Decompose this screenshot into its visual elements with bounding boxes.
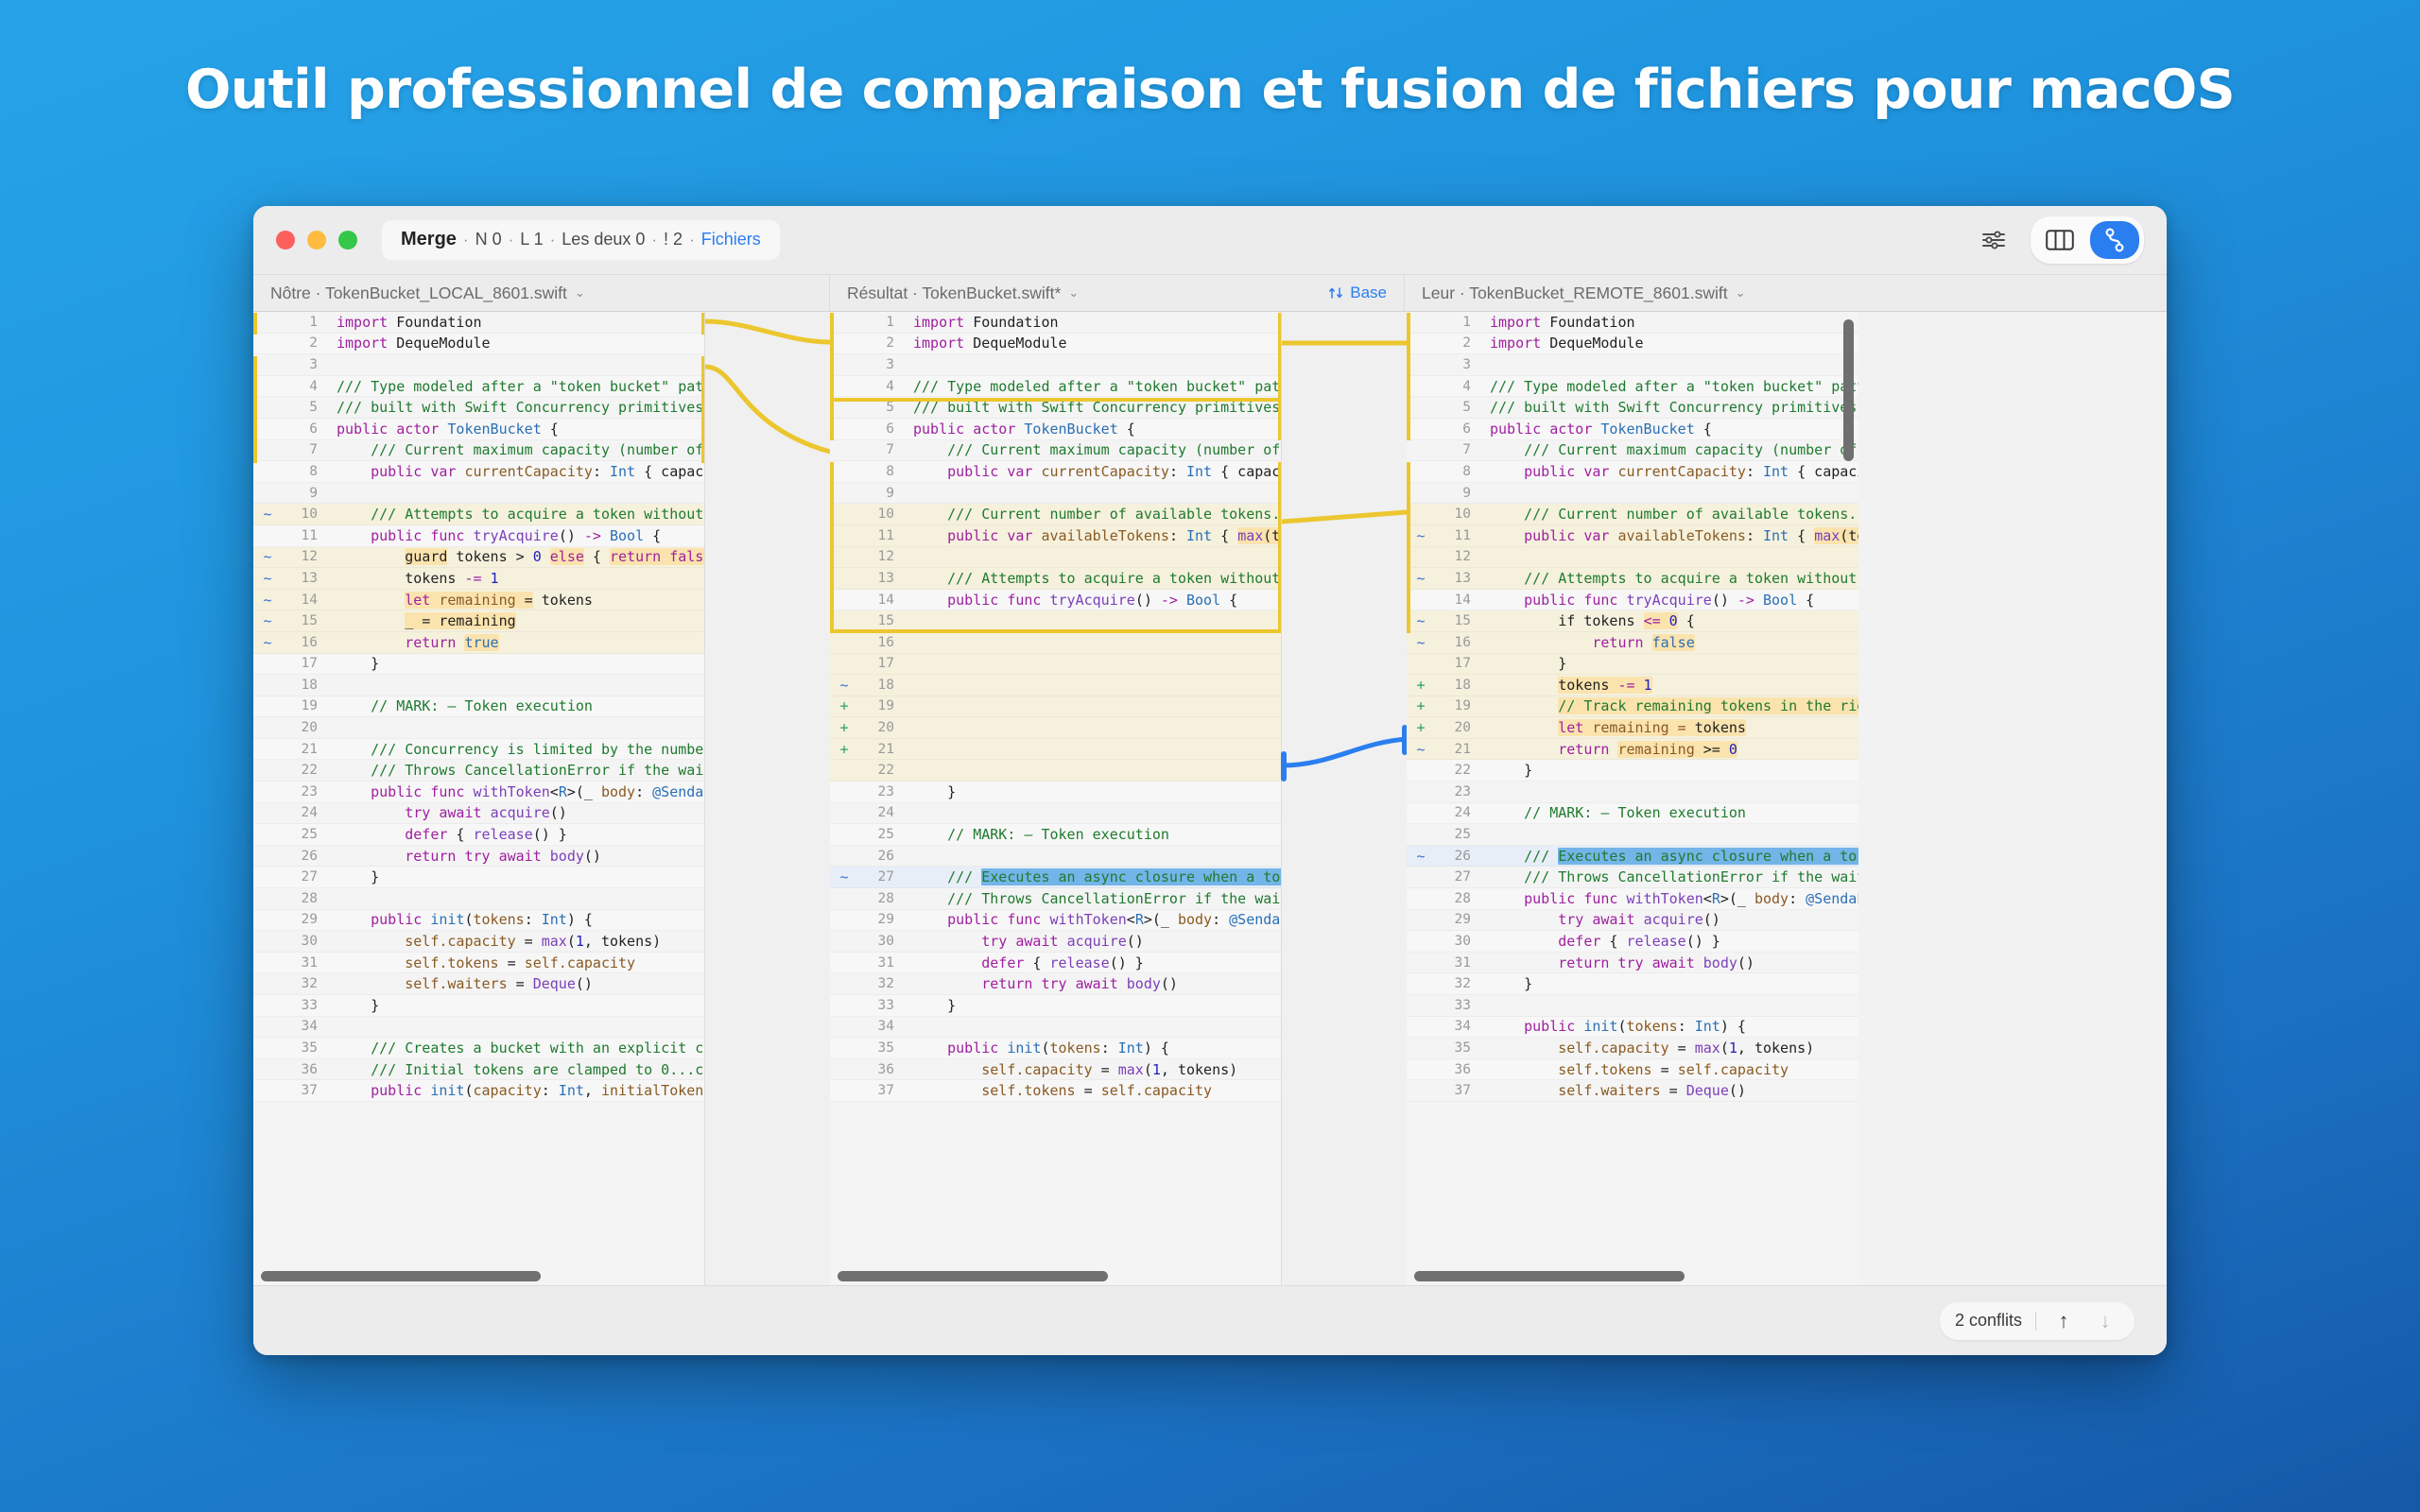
line-content: self.capacity = max(1, tokens): [1475, 1039, 1858, 1057]
code-line[interactable]: 31 self.tokens = self.capacity: [253, 953, 705, 974]
line-content: try await acquire(): [1475, 911, 1858, 928]
line-number: 11: [1435, 528, 1475, 543]
line-number: 28: [282, 891, 321, 906]
code-line[interactable]: ~16 return true: [253, 632, 705, 654]
line-content: }: [1475, 655, 1858, 672]
code-line[interactable]: ~13 tokens -= 1: [253, 568, 705, 590]
line-number: 14: [1435, 593, 1475, 608]
code-line[interactable]: 22 }: [1407, 760, 1858, 782]
line-number: 26: [282, 849, 321, 864]
merge-branch-icon[interactable]: [2090, 221, 2139, 259]
code-line[interactable]: 6public actor TokenBucket {: [253, 419, 705, 440]
code-line[interactable]: 1import Foundation: [1407, 312, 1858, 334]
code-line[interactable]: 37 self.waiters = Deque(): [1407, 1080, 1858, 1102]
status-bar: 2 conflits ↑ ↓: [253, 1285, 2167, 1355]
line-number: 18: [858, 678, 898, 693]
line-number: 32: [282, 976, 321, 991]
arrow-down-icon[interactable]: ↓: [2091, 1309, 2119, 1333]
pane-label-result: Résultat · TokenBucket.swift*: [847, 283, 1061, 303]
line-number: 1: [858, 315, 898, 330]
code-line[interactable]: +19 // Track remaining tokens in the rig…: [1407, 696, 1858, 718]
code-line[interactable]: 17 }: [1407, 654, 1858, 676]
line-content: public var currentCapacity: Int { capaci…: [898, 463, 1282, 480]
line-number: 15: [858, 613, 898, 628]
line-content: self.waiters = Deque(): [321, 975, 705, 992]
line-number: 23: [858, 784, 898, 799]
added-marker-icon: +: [830, 719, 858, 736]
pane-ours[interactable]: 1import Foundation2import DequeModule34/…: [253, 312, 705, 1285]
line-content: defer { release() }: [1475, 933, 1858, 950]
line-content: /// Initial tokens are clamped to 0...ca…: [321, 1061, 705, 1078]
diff-block-edge: [1407, 398, 1410, 440]
three-column-icon[interactable]: [2035, 221, 2084, 259]
code-line[interactable]: 25 defer { release() }: [253, 824, 705, 846]
line-number: 35: [858, 1040, 898, 1056]
title-separator-2: ·: [509, 231, 514, 249]
line-content: import Foundation: [1475, 314, 1858, 331]
line-number: 1: [282, 315, 321, 330]
code-line[interactable]: ~12 guard tokens > 0 else { return false…: [253, 547, 705, 569]
code-line[interactable]: 27 }: [253, 867, 705, 888]
base-toggle-button[interactable]: Base: [1328, 283, 1387, 302]
code-line[interactable]: 8 public var currentCapacity: Int { capa…: [1407, 461, 1858, 483]
code-line[interactable]: +20: [830, 717, 1282, 739]
code-line[interactable]: 6public actor TokenBucket {: [1407, 419, 1858, 440]
code-line[interactable]: ~26 /// Executes an async closure when a…: [1407, 846, 1858, 868]
code-line[interactable]: 9: [253, 483, 705, 505]
code-line[interactable]: 30 defer { release() }: [1407, 931, 1858, 953]
line-content: let remaining = tokens: [1475, 719, 1858, 736]
line-content: _ = remaining: [321, 612, 705, 629]
code-line[interactable]: 23 public func withToken<R>(_ body: @Sen…: [253, 782, 705, 803]
line-number: 32: [858, 976, 898, 991]
code-line[interactable]: 7 /// Current maximum capacity (number o…: [830, 440, 1282, 462]
line-content: public init(tokens: Int) {: [321, 911, 705, 928]
code-line[interactable]: 1import Foundation: [253, 312, 705, 334]
code-line[interactable]: 14 public func tryAcquire() -> Bool {: [830, 590, 1282, 611]
line-number: 33: [858, 998, 898, 1013]
line-number: 30: [858, 934, 898, 949]
line-number: 1: [1435, 315, 1475, 330]
code-line[interactable]: 24 try await acquire(): [253, 803, 705, 825]
line-content: import DequeModule: [898, 335, 1282, 352]
line-content: /// Executes an async closure when a tok…: [898, 868, 1282, 885]
code-line[interactable]: 35 self.capacity = max(1, tokens): [1407, 1038, 1858, 1059]
added-marker-icon: +: [1407, 719, 1435, 736]
code-line[interactable]: ~14 let remaining = tokens: [253, 590, 705, 611]
change-marker-icon: ~: [1407, 612, 1435, 629]
code-line[interactable]: 8 public var currentCapacity: Int { capa…: [830, 461, 1282, 483]
line-content: /// Type modeled after a "token bucket" …: [1475, 378, 1858, 395]
code-line[interactable]: ~11 public var availableTokens: Int { ma…: [1407, 525, 1858, 547]
page-headline: Outil professionnel de comparaison et fu…: [0, 59, 2420, 121]
code-line[interactable]: 12: [1407, 547, 1858, 569]
line-number: 10: [282, 507, 321, 522]
code-line[interactable]: 22 /// Throws CancellationError if the w…: [253, 760, 705, 782]
code-line[interactable]: +21: [830, 739, 1282, 761]
line-number: 8: [858, 464, 898, 479]
code-line[interactable]: 32 }: [1407, 973, 1858, 995]
code-line[interactable]: 19 // MARK: – Token execution: [253, 696, 705, 718]
code-line[interactable]: 4/// Type modeled after a "token bucket"…: [830, 376, 1282, 398]
code-line[interactable]: +19: [830, 696, 1282, 718]
code-line[interactable]: 11 public var availableTokens: Int { max…: [830, 525, 1282, 547]
line-number: 3: [282, 357, 321, 372]
code-line[interactable]: 9: [1407, 483, 1858, 505]
code-line[interactable]: 4/// Type modeled after a "token bucket"…: [1407, 376, 1858, 398]
line-number: 27: [858, 869, 898, 885]
diff-block-edge: [830, 462, 834, 633]
line-content: try await acquire(): [898, 933, 1282, 950]
code-line[interactable]: 36 self.capacity = max(1, tokens): [830, 1059, 1282, 1081]
line-number: 2: [858, 335, 898, 351]
line-number: 12: [1435, 549, 1475, 564]
code-line[interactable]: +20 let remaining = tokens: [1407, 717, 1858, 739]
code-line[interactable]: 34: [253, 1017, 705, 1039]
line-content: import Foundation: [321, 314, 705, 331]
code-line[interactable]: 25 // MARK: – Token execution: [830, 824, 1282, 846]
line-number: 27: [1435, 869, 1475, 885]
chevron-down-icon[interactable]: ⌄: [1068, 285, 1079, 301]
code-line[interactable]: 32 self.waiters = Deque(): [253, 973, 705, 995]
code-line[interactable]: 34: [830, 1017, 1282, 1039]
diff-connector-lines: [1282, 312, 1407, 1257]
merge-app-window: Merge · N 0 · L 1 · Les deux 0 · ! 2 · F…: [253, 206, 2167, 1355]
line-number: 19: [282, 698, 321, 713]
line-content: /// Current maximum capacity (number of …: [321, 441, 705, 458]
line-number: 2: [282, 335, 321, 351]
line-content: import Foundation: [898, 314, 1282, 331]
code-line[interactable]: 11 public func tryAcquire() -> Bool {: [253, 525, 705, 547]
line-number: 26: [1435, 849, 1475, 864]
line-number: 5: [1435, 400, 1475, 415]
code-line[interactable]: 37 self.tokens = self.capacity: [830, 1080, 1282, 1102]
code-line[interactable]: 28: [253, 888, 705, 910]
code-line[interactable]: 35 /// Creates a bucket with an explicit…: [253, 1038, 705, 1059]
code-line[interactable]: 36 self.tokens = self.capacity: [1407, 1059, 1858, 1081]
pane-header-bar: Nôtre · TokenBucket_LOCAL_8601.swift ⌄ R…: [253, 274, 2167, 312]
code-line[interactable]: 20: [253, 717, 705, 739]
code-line[interactable]: 3: [830, 354, 1282, 376]
horizontal-scrollbar-theirs[interactable]: [1414, 1271, 1685, 1281]
code-line[interactable]: 26: [830, 846, 1282, 868]
line-content: public actor TokenBucket {: [321, 421, 705, 438]
code-line[interactable]: 28 public func withToken<R>(_ body: @Sen…: [1407, 888, 1858, 910]
line-number: 23: [282, 784, 321, 799]
code-line[interactable]: 27 /// Throws CancellationError if the w…: [1407, 867, 1858, 888]
line-number: 6: [858, 421, 898, 437]
horizontal-scrollbar-ours[interactable]: [261, 1271, 541, 1281]
code-line[interactable]: 17 }: [253, 654, 705, 676]
line-content: /// built with Swift Concurrency primiti…: [321, 399, 705, 416]
line-content: // Track remaining tokens in the right b…: [1475, 697, 1858, 714]
change-marker-icon: ~: [1407, 527, 1435, 544]
line-content: public actor TokenBucket {: [898, 421, 1282, 438]
line-content: public func withToken<R>(_ body: @Sendab…: [1475, 890, 1858, 907]
code-line[interactable]: 7 /// Current maximum capacity (number o…: [253, 440, 705, 462]
line-content: /// Current maximum capacity (number of …: [1475, 441, 1858, 458]
code-line[interactable]: 29 public init(tokens: Int) {: [253, 910, 705, 932]
minimize-window-icon[interactable]: [307, 231, 326, 249]
line-content: }: [321, 655, 705, 672]
change-marker-icon: ~: [253, 548, 282, 565]
code-line[interactable]: 5/// built with Swift Concurrency primit…: [1407, 397, 1858, 419]
line-content: }: [898, 997, 1282, 1014]
line-number: 16: [858, 635, 898, 650]
line-content: /// Throws CancellationError if the wait…: [1475, 868, 1858, 885]
line-number: 6: [282, 421, 321, 437]
line-content: public init(tokens: Int) {: [1475, 1018, 1858, 1035]
line-number: 35: [1435, 1040, 1475, 1056]
line-content: tokens -= 1: [321, 570, 705, 587]
code-line[interactable]: 34 public init(tokens: Int) {: [1407, 1017, 1858, 1039]
line-content: tokens -= 1: [1475, 677, 1858, 694]
line-content: /// Type modeled after a "token bucket" …: [321, 378, 705, 395]
code-line[interactable]: 33 }: [830, 995, 1282, 1017]
line-content: /// Current number of available tokens.: [1475, 506, 1858, 523]
line-number: 7: [282, 442, 321, 457]
line-number: 28: [1435, 891, 1475, 906]
code-line[interactable]: ~16 return false: [1407, 632, 1858, 654]
code-line[interactable]: ~10 /// Attempts to acquire a token with…: [253, 504, 705, 525]
line-number: 9: [858, 486, 898, 501]
line-content: guard tokens > 0 else { return false }: [321, 548, 705, 565]
pane-result[interactable]: 1import Foundation2import DequeModule34/…: [830, 312, 1282, 1285]
code-line[interactable]: 1import Foundation: [830, 312, 1282, 334]
line-content: public var availableTokens: Int { max(to…: [898, 527, 1282, 544]
title-separator-3: ·: [550, 231, 556, 249]
line-number: 31: [858, 955, 898, 971]
code-line[interactable]: 18: [253, 675, 705, 696]
code-line[interactable]: 10 /// Current number of available token…: [1407, 504, 1858, 525]
line-number: 24: [858, 805, 898, 820]
line-number: 17: [282, 656, 321, 671]
line-number: 12: [282, 549, 321, 564]
code-line[interactable]: 4/// Type modeled after a "token bucket"…: [253, 376, 705, 398]
code-line[interactable]: 3: [253, 354, 705, 376]
line-content: defer { release() }: [321, 826, 705, 843]
line-content: /// Current maximum capacity (number of …: [898, 441, 1282, 458]
line-content: self.waiters = Deque(): [1475, 1082, 1858, 1099]
line-number: 3: [1435, 357, 1475, 372]
line-content: /// Attempts to acquire a token without …: [321, 506, 705, 523]
code-line[interactable]: 12: [830, 547, 1282, 569]
code-line[interactable]: 26 return try await body(): [253, 846, 705, 868]
code-line[interactable]: 3: [1407, 354, 1858, 376]
code-line[interactable]: 2import DequeModule: [1407, 334, 1858, 355]
code-line[interactable]: 9: [830, 483, 1282, 505]
line-number: 29: [858, 912, 898, 927]
line-number: 18: [282, 678, 321, 693]
line-content: }: [321, 868, 705, 885]
code-line[interactable]: 24: [830, 803, 1282, 825]
pane-header-result[interactable]: Résultat · TokenBucket.swift* ⌄ Base: [830, 275, 1405, 311]
code-line[interactable]: 30 self.capacity = max(1, tokens): [253, 931, 705, 953]
line-content: /// Attempts to acquire a token without …: [898, 570, 1282, 587]
line-number: 33: [1435, 998, 1475, 1013]
line-content: /// built with Swift Concurrency primiti…: [1475, 399, 1858, 416]
close-window-icon[interactable]: [276, 231, 295, 249]
code-line[interactable]: +18 tokens -= 1: [1407, 675, 1858, 696]
pane-header-ours[interactable]: Nôtre · TokenBucket_LOCAL_8601.swift ⌄: [253, 275, 830, 311]
code-line[interactable]: 2import DequeModule: [253, 334, 705, 355]
code-line[interactable]: 24 // MARK: – Token execution: [1407, 803, 1858, 825]
horizontal-scrollbar-result[interactable]: [838, 1271, 1108, 1281]
code-rows-result: 1import Foundation2import DequeModule34/…: [830, 312, 1282, 1102]
titlebar-actions: [1978, 216, 2150, 264]
added-marker-icon: +: [830, 697, 858, 714]
change-marker-icon: ~: [1407, 570, 1435, 587]
code-line[interactable]: 25: [1407, 824, 1858, 846]
document-title-pill[interactable]: Merge · N 0 · L 1 · Les deux 0 · ! 2 · F…: [382, 220, 780, 260]
line-number: 25: [858, 827, 898, 842]
code-line[interactable]: ~15 if tokens <= 0 {: [1407, 610, 1858, 632]
line-content: public func withToken<R>(_ body: @Sendab…: [321, 783, 705, 800]
line-number: 37: [282, 1083, 321, 1098]
code-line[interactable]: 23 }: [830, 782, 1282, 803]
sliders-icon[interactable]: [1978, 224, 2010, 256]
chevron-down-icon[interactable]: ⌄: [575, 285, 585, 301]
change-marker-icon: ~: [253, 612, 282, 629]
code-line[interactable]: 33: [1407, 995, 1858, 1017]
line-content: return true: [321, 634, 705, 651]
line-number: 16: [282, 635, 321, 650]
line-number: 31: [1435, 955, 1475, 971]
line-content: public var availableTokens: Int { max(to…: [1475, 527, 1858, 544]
line-content: return try await body(): [898, 975, 1282, 992]
files-link[interactable]: Fichiers: [701, 230, 761, 249]
code-line[interactable]: 31 return try await body(): [1407, 953, 1858, 974]
line-number: 34: [858, 1019, 898, 1034]
line-content: // MARK: – Token execution: [321, 697, 705, 714]
line-content: }: [1475, 762, 1858, 779]
code-line[interactable]: 22: [830, 760, 1282, 782]
chevron-down-icon[interactable]: ⌄: [1736, 285, 1746, 301]
line-number: 26: [858, 849, 898, 864]
code-line[interactable]: 6public actor TokenBucket {: [830, 419, 1282, 440]
diff-block-edge: [830, 398, 834, 440]
code-rows-ours: 1import Foundation2import DequeModule34/…: [253, 312, 705, 1102]
line-number: 34: [282, 1019, 321, 1034]
code-line[interactable]: ~27 /// Executes an async closure when a…: [830, 867, 1282, 888]
line-content: }: [321, 997, 705, 1014]
pane-header-theirs[interactable]: Leur · TokenBucket_REMOTE_8601.swift ⌄: [1405, 275, 2167, 311]
code-line[interactable]: 14 public func tryAcquire() -> Bool {: [1407, 590, 1858, 611]
line-number: 36: [1435, 1062, 1475, 1077]
base-label: Base: [1350, 283, 1387, 302]
line-number: 32: [1435, 976, 1475, 991]
code-line[interactable]: 16: [830, 632, 1282, 654]
code-line[interactable]: 23: [1407, 782, 1858, 803]
window-titlebar: Merge · N 0 · L 1 · Les deux 0 · ! 2 · F…: [253, 206, 2167, 274]
code-line[interactable]: ~15 _ = remaining: [253, 610, 705, 632]
arrow-up-icon[interactable]: ↑: [2049, 1309, 2078, 1333]
code-line[interactable]: 31 defer { release() }: [830, 953, 1282, 974]
code-line[interactable]: 28 /// Throws CancellationError if the w…: [830, 888, 1282, 910]
line-content: if tokens <= 0 {: [1475, 612, 1858, 629]
code-line[interactable]: 32 return try await body(): [830, 973, 1282, 995]
line-number: 4: [282, 379, 321, 394]
line-content: public init(tokens: Int) {: [898, 1039, 1282, 1057]
line-number: 27: [282, 869, 321, 885]
line-content: public func withToken<R>(_ body: @Sendab…: [898, 911, 1282, 928]
code-line[interactable]: 37 public init(capacity: Int, initialTok…: [253, 1080, 705, 1102]
line-content: return remaining >= 0: [1475, 741, 1858, 758]
line-content: defer { release() }: [898, 954, 1282, 971]
title-separator-1: ·: [463, 231, 469, 249]
line-content: let remaining = tokens: [321, 592, 705, 609]
line-content: self.capacity = max(1, tokens): [898, 1061, 1282, 1078]
line-content: public func tryAcquire() -> Bool {: [1475, 592, 1858, 609]
code-line[interactable]: 17: [830, 654, 1282, 676]
change-marker-icon: ~: [830, 868, 858, 885]
connector-gutter-left: [705, 312, 830, 1285]
line-number: 25: [1435, 827, 1475, 842]
line-content: /// Creates a bucket with an explicit ca…: [321, 1039, 705, 1057]
code-line[interactable]: 33 }: [253, 995, 705, 1017]
line-content: /// Type modeled after a "token bucket" …: [898, 378, 1282, 395]
line-number: 9: [282, 486, 321, 501]
line-number: 15: [282, 613, 321, 628]
added-marker-icon: +: [830, 741, 858, 758]
code-line[interactable]: ~21 return remaining >= 0: [1407, 739, 1858, 761]
code-line[interactable]: 29 public func withToken<R>(_ body: @Sen…: [830, 910, 1282, 932]
line-number: 14: [282, 593, 321, 608]
code-line[interactable]: 7 /// Current maximum capacity (number o…: [1407, 440, 1858, 462]
code-line[interactable]: ~18: [830, 675, 1282, 696]
line-content: }: [1475, 975, 1858, 992]
code-line[interactable]: 21 /// Concurrency is limited by the num…: [253, 739, 705, 761]
line-number: 34: [1435, 1019, 1475, 1034]
diff-block-edge: [1407, 462, 1410, 633]
change-marker-icon: ~: [1407, 848, 1435, 865]
code-line[interactable]: 8 public var currentCapacity: Int { capa…: [253, 461, 705, 483]
line-number: 13: [282, 571, 321, 586]
code-line[interactable]: 5/// built with Swift Concurrency primit…: [253, 397, 705, 419]
code-line[interactable]: 30 try await acquire(): [830, 931, 1282, 953]
line-number: 22: [1435, 763, 1475, 778]
title-separator-5: ·: [689, 231, 695, 249]
line-content: }: [898, 783, 1282, 800]
line-number: 11: [858, 528, 898, 543]
code-line[interactable]: 29 try await acquire(): [1407, 910, 1858, 932]
line-number: 15: [1435, 613, 1475, 628]
line-content: return try await body(): [1475, 954, 1858, 971]
code-line[interactable]: 10 /// Current number of available token…: [830, 504, 1282, 525]
line-number: 33: [282, 998, 321, 1013]
pane-theirs[interactable]: 1import Foundation2import DequeModule34/…: [1407, 312, 1858, 1285]
vertical-scrollbar-theirs[interactable]: [1843, 319, 1854, 461]
code-line[interactable]: 13 /// Attempts to acquire a token witho…: [830, 568, 1282, 590]
line-number: 4: [858, 379, 898, 394]
code-line[interactable]: 35 public init(tokens: Int) {: [830, 1038, 1282, 1059]
line-content: self.capacity = max(1, tokens): [321, 933, 705, 950]
maximize-window-icon[interactable]: [338, 231, 357, 249]
line-number: 25: [282, 827, 321, 842]
line-content: /// Executes an async closure when a tok…: [1475, 848, 1858, 865]
code-line[interactable]: 2import DequeModule: [830, 334, 1282, 355]
line-number: 6: [1435, 421, 1475, 437]
code-line[interactable]: ~13 /// Attempts to acquire a token with…: [1407, 568, 1858, 590]
conflict-count-label: 2 conflits: [1955, 1311, 2022, 1331]
line-number: 8: [282, 464, 321, 479]
line-number: 14: [858, 593, 898, 608]
line-number: 36: [282, 1062, 321, 1077]
swap-icon: [1328, 285, 1344, 301]
line-content: self.tokens = self.capacity: [1475, 1061, 1858, 1078]
line-content: /// Throws CancellationError if the wait…: [321, 762, 705, 779]
code-line[interactable]: 36 /// Initial tokens are clamped to 0..…: [253, 1059, 705, 1081]
